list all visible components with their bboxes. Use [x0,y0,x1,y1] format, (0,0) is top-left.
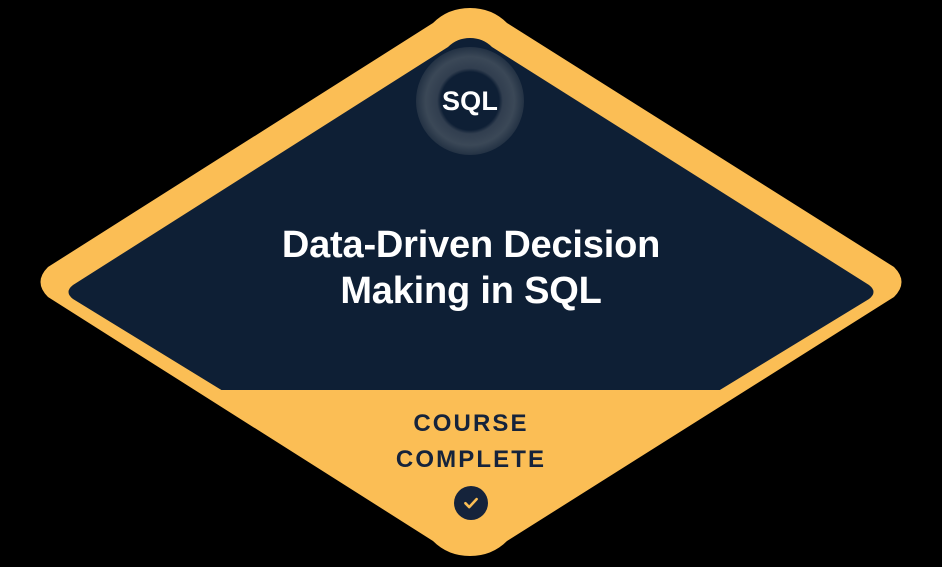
course-title-line-2: Making in SQL [121,268,821,314]
course-title-line-1: Data-Driven Decision [121,222,821,268]
completion-line-1: COURSE [271,406,671,442]
course-title: Data-Driven Decision Making in SQL [121,222,821,314]
check-mark-icon [454,486,488,520]
completion-line-2: COMPLETE [271,442,671,478]
completion-status: COURSE COMPLETE [271,406,671,520]
technology-label: SQL [442,88,498,115]
badge-canvas: SQL Data-Driven Decision Making in SQL C… [0,0,942,567]
technology-badge: SQL [416,47,524,155]
